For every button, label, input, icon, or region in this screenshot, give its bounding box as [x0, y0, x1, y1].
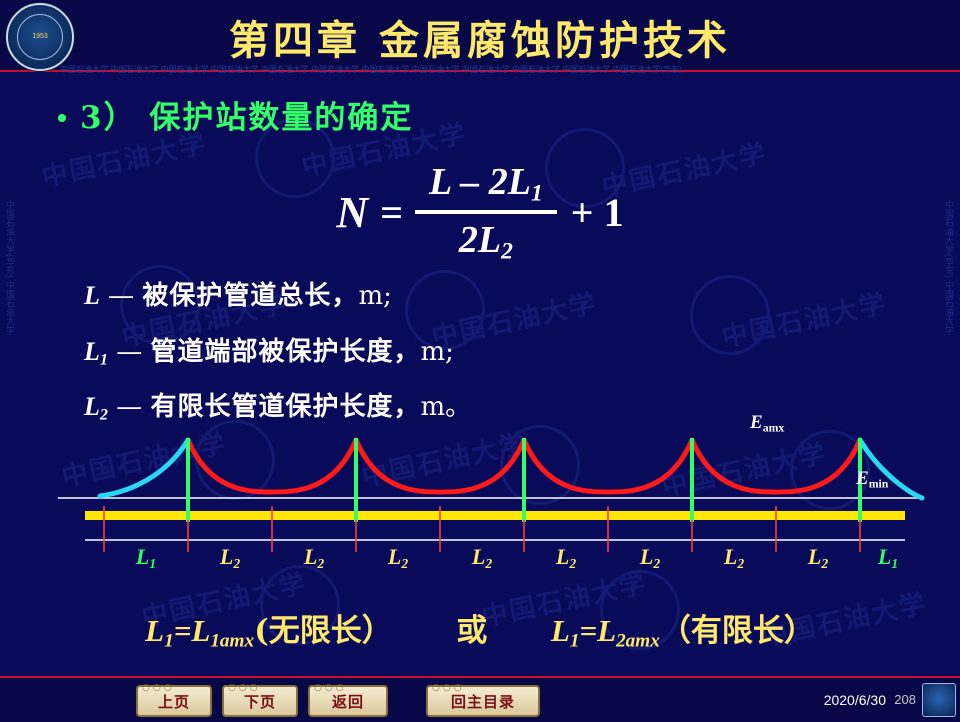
back-label: 返回 — [332, 691, 364, 712]
station-markers — [188, 438, 860, 522]
segment-label-base: L — [304, 544, 317, 569]
bf-l1: L — [145, 613, 164, 648]
protection-potential-diagram: Eamx Emin L1L2L2L2L2L2L2L2L2L1 — [50, 420, 930, 580]
legend-item: L1 — 管道端部被保护长度，m; — [84, 331, 784, 370]
formula-fraction: L – 2L1 2L2 — [415, 160, 557, 265]
numerator-subscript: 1 — [531, 181, 543, 207]
prev-page-button[interactable]: ○○○ 上页 — [136, 685, 212, 717]
legend-desc: 被保护管道总长， — [142, 281, 358, 311]
bullet-text: 3） 保护站数量的确定 — [80, 92, 413, 137]
emin-subscript: min — [869, 477, 889, 490]
segment-label-base: L — [136, 544, 149, 569]
bf-l1b: L — [551, 613, 570, 648]
denominator-subscript: 2 — [501, 238, 513, 264]
next-page-button[interactable]: ○○○ 下页 — [222, 685, 298, 717]
formula-denominator: 2L2 — [445, 214, 527, 266]
legend-dash: — — [116, 392, 142, 422]
formula-plus-one: + 1 — [571, 189, 624, 236]
segment-label-sub: 2 — [401, 556, 408, 571]
button-ring-icon: ○○○ — [314, 683, 347, 693]
segment-label: L1 — [868, 544, 908, 572]
back-button[interactable]: ○○○ 返回 — [308, 685, 388, 717]
bf-cn1: (无限长） — [254, 613, 393, 649]
legend-dash: — — [108, 281, 134, 311]
segment-label: L2 — [630, 544, 670, 572]
bf-l1-sub: 1 — [164, 630, 174, 651]
segment-label-sub: 1 — [149, 556, 156, 571]
segment-label-sub: 2 — [821, 556, 828, 571]
page-title: 第四章 金属腐蚀防护技术 — [0, 8, 960, 66]
segment-label-base: L — [388, 544, 401, 569]
segment-label-base: L — [220, 544, 233, 569]
emax-subscript: amx — [763, 421, 785, 434]
legend-symbol: L — [84, 337, 100, 366]
legend-symbol-sub: 1 — [100, 351, 108, 368]
segment-label: L2 — [546, 544, 586, 572]
footer-date: 2020/6/30 — [824, 692, 886, 708]
bf-l1amx-sub: 1amx — [210, 630, 254, 651]
main-formula: N = L – 2L1 2L2 + 1 — [0, 160, 960, 265]
bf-cn2: （有限长） — [660, 613, 815, 649]
slide-header: 第四章 金属腐蚀防护技术 1953 — [0, 0, 960, 72]
bullet-row: 3） 保护站数量的确定 — [58, 92, 413, 137]
legend-unit: m; — [358, 281, 391, 311]
segment-label-sub: 2 — [569, 556, 576, 571]
logo-inner-text: 1953 — [17, 14, 63, 60]
bf-l2amx-sub: 2amx — [616, 630, 660, 651]
legend-unit: m; — [421, 337, 454, 367]
segment-label-base: L — [640, 544, 653, 569]
segment-label-sub: 2 — [485, 556, 492, 571]
bf-or: 或 — [456, 613, 487, 649]
segment-label-sub: 1 — [891, 556, 898, 571]
legend-dash: — — [116, 337, 142, 367]
footer-logo-icon — [922, 683, 956, 717]
main-menu-label: 回主目录 — [451, 691, 515, 712]
segment-label: L1 — [126, 544, 166, 572]
header-microtext: 中国石油大学 中国石油大学 中国石油大学 中国石油大学 中国石油大学 中国石油大… — [60, 64, 960, 76]
segment-label: L2 — [378, 544, 418, 572]
emax-symbol: E — [750, 412, 763, 433]
bottom-formula: L1=L1amx(无限长） 或 L1=L2amx（有限长） — [0, 605, 960, 652]
slide-footer: ○○○ 上页 ○○○ 下页 ○○○ 返回 ○○○ 回主目录 2020/6/30 … — [0, 676, 960, 722]
pipeline-band — [85, 511, 905, 520]
segment-label-base: L — [556, 544, 569, 569]
button-ring-icon: ○○○ — [228, 683, 261, 693]
legend-desc: 管道端部被保护长度， — [150, 337, 420, 367]
formula-equals: = — [380, 189, 403, 236]
footer-page-number: 208 — [894, 692, 916, 707]
denominator-text: 2L — [459, 219, 501, 261]
segment-label-sub: 2 — [653, 556, 660, 571]
segment-label-sub: 2 — [233, 556, 240, 571]
segment-label-base: L — [724, 544, 737, 569]
numerator-text: L – 2L — [429, 161, 531, 203]
segment-label-base: L — [808, 544, 821, 569]
formula-lhs: N — [336, 187, 368, 238]
segment-label-base: L — [878, 544, 891, 569]
bf-eq2: =L — [579, 613, 616, 648]
legend-symbol: L — [84, 281, 100, 310]
legend-desc: 有限长管道保护长度， — [150, 392, 420, 422]
symbol-legend: L — 被保护管道总长，m; L1 — 管道端部被保护长度，m; L2 — 有限… — [84, 275, 784, 442]
legend-item: L — 被保护管道总长，m; — [84, 275, 784, 314]
segment-label-sub: 2 — [317, 556, 324, 571]
legend-unit: m。 — [421, 392, 472, 422]
bullet-dot-icon — [58, 114, 66, 122]
university-logo: 1953 — [6, 3, 74, 71]
main-menu-button[interactable]: ○○○ 回主目录 — [426, 685, 540, 717]
segment-label: L2 — [210, 544, 250, 572]
segment-label-sub: 2 — [737, 556, 744, 571]
button-ring-icon: ○○○ — [432, 683, 465, 693]
bf-eq1: =L — [174, 613, 211, 648]
segment-label: L2 — [462, 544, 502, 572]
segment-label-base: L — [472, 544, 485, 569]
formula-numerator: L – 2L1 — [415, 160, 557, 210]
button-ring-icon: ○○○ — [142, 683, 175, 693]
emin-symbol: E — [856, 468, 869, 489]
emax-label: Eamx — [750, 412, 784, 435]
segment-label: L2 — [714, 544, 754, 572]
segment-label: L2 — [798, 544, 838, 572]
emin-label: Emin — [856, 468, 888, 491]
prev-page-label: 上页 — [158, 691, 190, 712]
legend-symbol: L — [84, 392, 100, 421]
next-page-label: 下页 — [244, 691, 276, 712]
legend-item: L2 — 有限长管道保护长度，m。 — [84, 386, 784, 425]
segment-label: L2 — [294, 544, 334, 572]
